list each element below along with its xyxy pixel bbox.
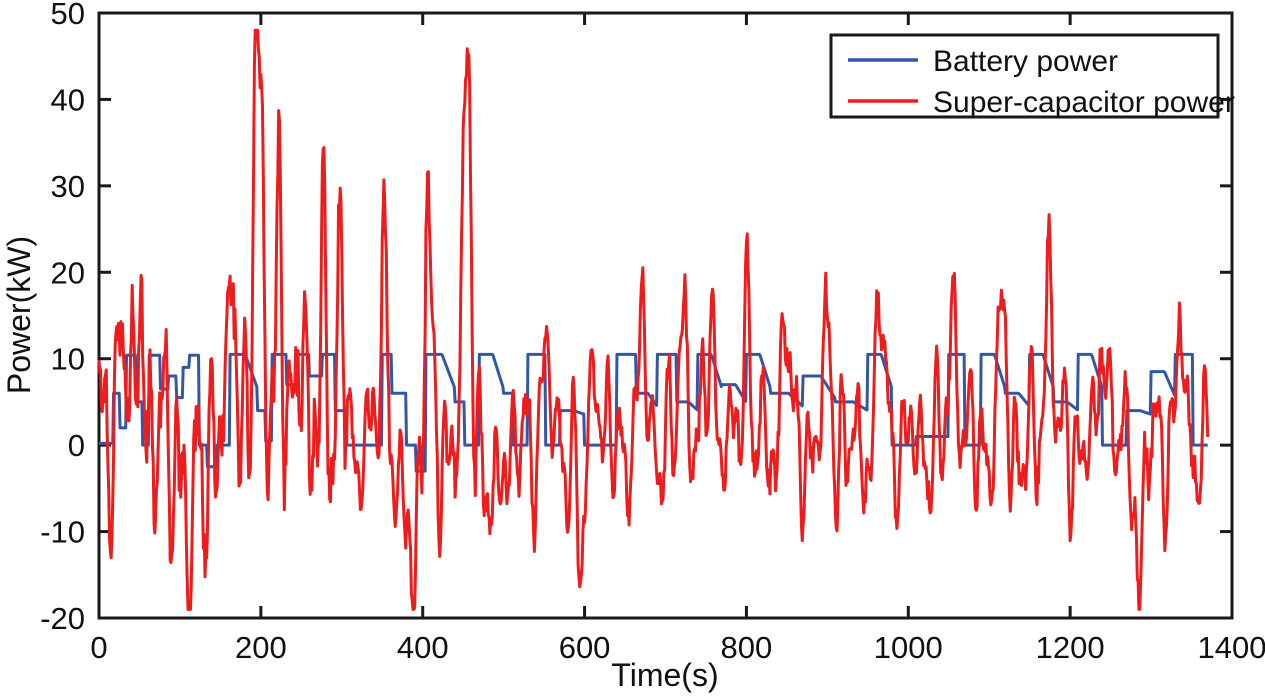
figure-container: 0200400600800100012001400 -20-1001020304…	[0, 0, 1265, 699]
x-tick-label-1200: 1200	[1036, 630, 1105, 665]
y-tick-label--10: -10	[40, 515, 85, 550]
y-tick-label-50: 50	[51, 0, 85, 31]
y-tick-label-30: 30	[51, 169, 85, 204]
legend-label-super-capacitor: Super-capacitor power	[933, 86, 1235, 119]
y-tick-label-20: 20	[51, 255, 85, 290]
y-tick-label--20: -20	[40, 601, 85, 636]
legend: Battery power Super-capacitor power	[831, 35, 1235, 119]
x-tick-label-200: 200	[235, 630, 287, 665]
x-tick-label-1000: 1000	[874, 630, 943, 665]
x-tick-label-800: 800	[721, 630, 773, 665]
y-axis-title: Power(kW)	[1, 236, 37, 394]
x-tick-label-600: 600	[559, 630, 611, 665]
legend-label-battery: Battery power	[933, 45, 1118, 78]
y-tick-label-40: 40	[51, 82, 85, 117]
y-tick-label-10: 10	[51, 342, 85, 377]
y-tick-label-0: 0	[68, 428, 85, 463]
x-tick-label-1400: 1400	[1198, 630, 1265, 665]
x-tick-label-0: 0	[90, 630, 107, 665]
power-profile-chart: 0200400600800100012001400 -20-1001020304…	[0, 0, 1265, 699]
x-tick-label-400: 400	[397, 630, 449, 665]
x-axis-title: Time(s)	[611, 657, 718, 693]
